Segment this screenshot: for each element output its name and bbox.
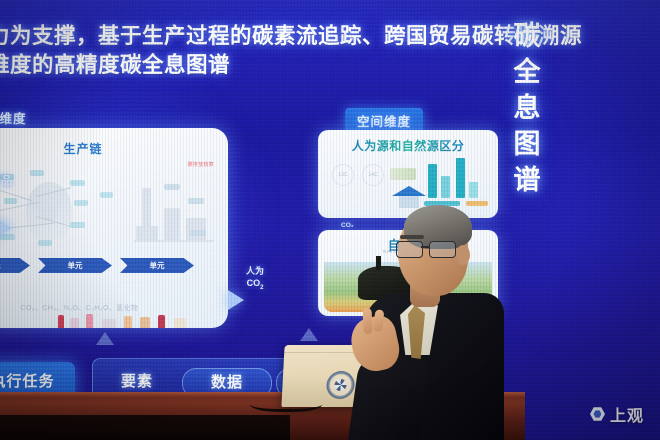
screenshot-root: 力为支撑，基于生产过程的碳素流追踪、跨国贸易碳转移溯源 维度的高精度碳全息图谱 … <box>0 0 660 440</box>
speaker-ear <box>456 245 470 265</box>
laptop-logo-icon <box>326 371 355 399</box>
watermark-brand: 上观 <box>610 402 644 426</box>
watermark: 上观 <box>590 402 644 426</box>
stage-shadow <box>0 415 290 440</box>
hexagon-logo-icon <box>590 407 605 422</box>
speaker-person <box>352 205 502 440</box>
speaker-glasses <box>396 241 458 257</box>
speaker-eyebrow <box>400 235 424 239</box>
laptop-cable <box>250 393 322 412</box>
